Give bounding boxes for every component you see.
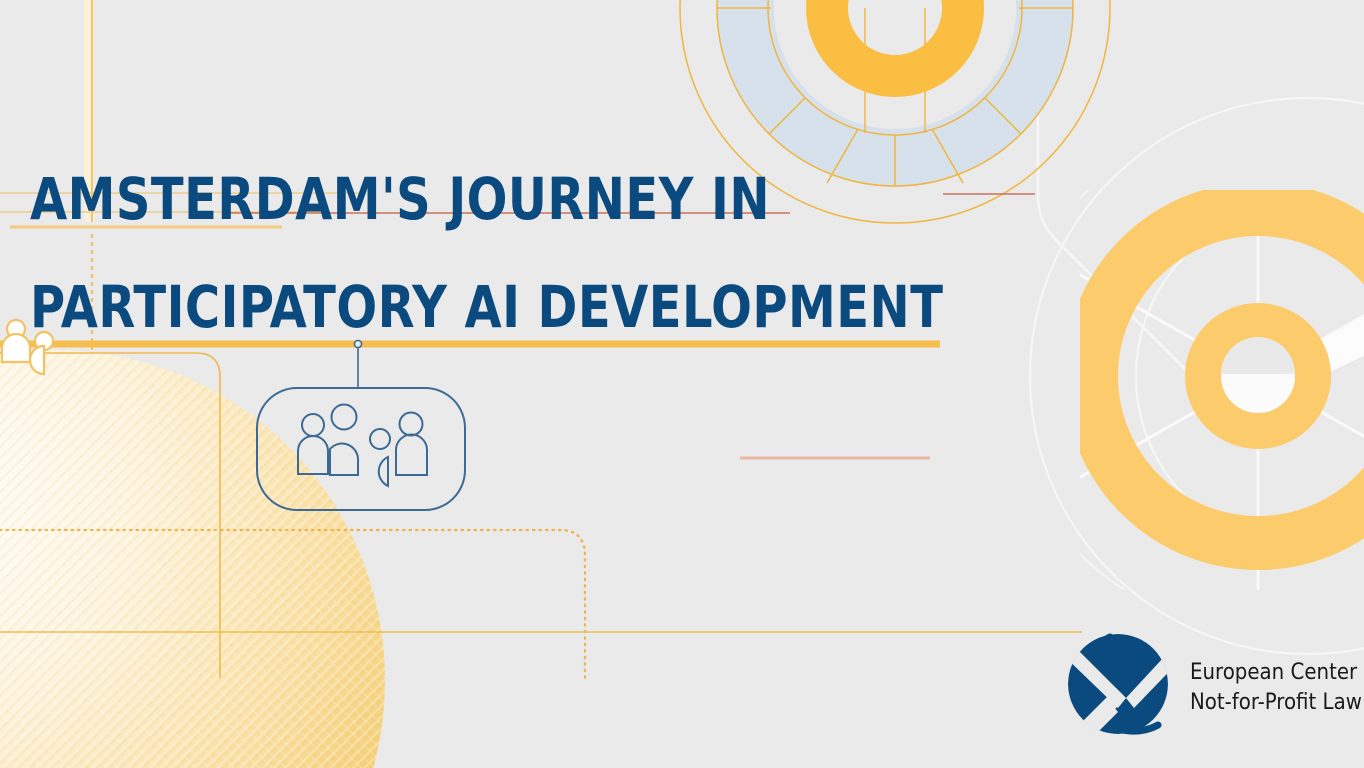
- slide-canvas: AMSTERDAM'S JOURNEY IN PARTICIPATORY AI …: [0, 0, 1364, 768]
- logo-text-line-2: Not-for-Profit Law: [1190, 688, 1362, 718]
- title-line-2: PARTICIPATORY AI DEVELOPMENT: [30, 253, 913, 361]
- logo-wordmark: European Center Not-for-Profit Law: [1190, 658, 1362, 718]
- gradient-sphere: [0, 350, 385, 768]
- right-concentric-target: [1006, 124, 1364, 628]
- logo-text-line-1: European Center: [1190, 658, 1362, 688]
- page-title: AMSTERDAM'S JOURNEY IN PARTICIPATORY AI …: [30, 145, 990, 361]
- title-line-1: AMSTERDAM'S JOURNEY IN: [30, 145, 913, 253]
- ecnl-logo[interactable]: European Center Not-for-Profit Law: [1052, 626, 1362, 750]
- ecnl-logo-mark: [1052, 626, 1176, 750]
